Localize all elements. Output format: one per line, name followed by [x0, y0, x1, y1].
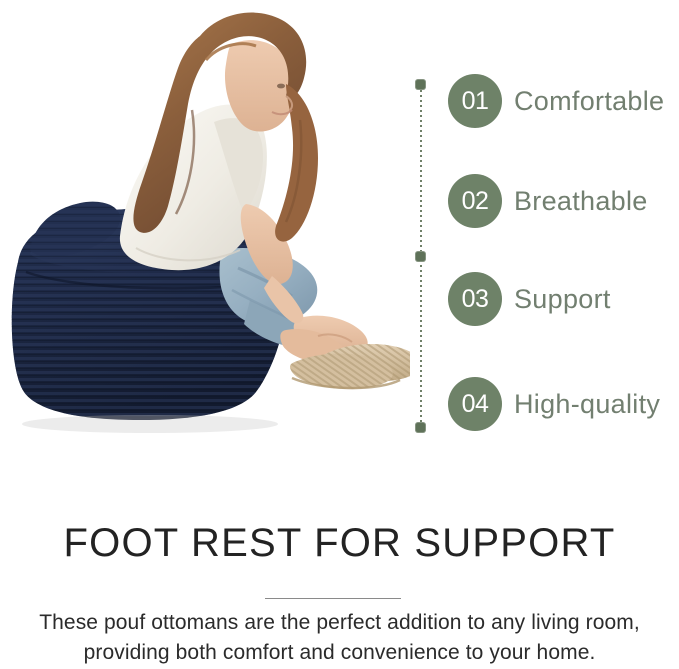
feature-item-high-quality: 04 High-quality [448, 377, 660, 431]
feature-item-comfortable: 01 Comfortable [448, 74, 664, 128]
feature-label-02: Breathable [514, 186, 648, 217]
feature-label-04: High-quality [514, 389, 660, 420]
timeline-marker-middle [415, 251, 426, 262]
feature-badge-04: 04 [448, 377, 502, 431]
feature-badge-03: 03 [448, 272, 502, 326]
feature-badge-02: 02 [448, 174, 502, 228]
product-infographic: 01 Comfortable 02 Breathable 03 Support … [0, 0, 679, 669]
timeline-marker-bottom [415, 422, 426, 433]
product-photo [0, 0, 410, 470]
feature-list: 01 Comfortable 02 Breathable 03 Support … [404, 62, 679, 442]
feature-badge-01: 01 [448, 74, 502, 128]
description-paragraph: These pouf ottomans are the perfect addi… [0, 608, 679, 668]
feature-item-breathable: 02 Breathable [448, 174, 648, 228]
description-line-2: providing both comfort and convenience t… [0, 638, 679, 668]
timeline-marker-top [415, 79, 426, 90]
description-line-1: These pouf ottomans are the perfect addi… [0, 608, 679, 638]
product-photo-illustration [0, 0, 410, 470]
page-title: FOOT REST FOR SUPPORT [0, 521, 679, 566]
feature-label-01: Comfortable [514, 86, 664, 117]
feature-item-support: 03 Support [448, 272, 611, 326]
feature-label-03: Support [514, 284, 611, 315]
title-divider [265, 598, 401, 599]
